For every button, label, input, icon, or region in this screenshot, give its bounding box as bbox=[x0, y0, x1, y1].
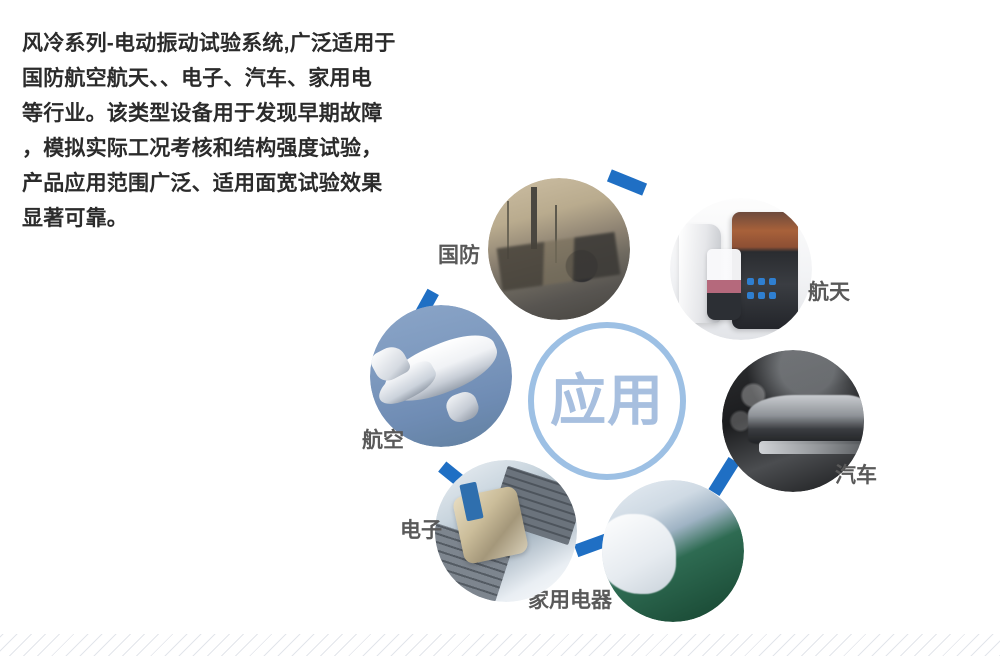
node-label-aerospace: 航天 bbox=[808, 282, 850, 303]
appliance-photo bbox=[602, 480, 744, 622]
node-label-electronics: 电子 bbox=[400, 520, 442, 541]
blender-jar bbox=[707, 249, 741, 320]
node-label-appliance: 家用电器 bbox=[528, 590, 612, 611]
control-dot-6 bbox=[769, 292, 776, 299]
node-appliance[interactable] bbox=[602, 480, 744, 622]
application-cycle-diagram: 应用 国防 航天 bbox=[330, 150, 970, 650]
center-label: 应用 bbox=[550, 373, 664, 429]
airliner-engine bbox=[443, 389, 482, 426]
node-label-aviation: 航空 bbox=[362, 430, 404, 451]
node-label-automobile: 汽车 bbox=[835, 465, 877, 486]
electronics-photo bbox=[435, 460, 577, 602]
control-dot-1 bbox=[747, 278, 754, 285]
control-dot-5 bbox=[758, 292, 765, 299]
node-aerospace[interactable] bbox=[670, 198, 812, 340]
description-line-1: 风冷系列-电动振动试验系统,广泛适用于 bbox=[22, 26, 422, 61]
node-aviation[interactable] bbox=[370, 305, 512, 447]
airliner-tail bbox=[370, 341, 412, 385]
node-electronics[interactable] bbox=[435, 460, 577, 602]
aviation-photo bbox=[370, 305, 512, 447]
control-dot-2 bbox=[758, 278, 765, 285]
connector-defense-to-aerospace bbox=[607, 169, 647, 195]
control-dot-3 bbox=[769, 278, 776, 285]
control-dot-4 bbox=[747, 292, 754, 299]
bottom-hatch-decoration bbox=[0, 634, 1000, 656]
node-label-defense: 国防 bbox=[438, 245, 480, 266]
center-ring: 应用 bbox=[528, 322, 686, 480]
application-fields-infographic: 风冷系列-电动振动试验系统,广泛适用于 国防航空航天、、电子、汽车、家用电 等行… bbox=[0, 0, 1000, 656]
defense-photo bbox=[488, 178, 630, 320]
node-defense[interactable] bbox=[488, 178, 630, 320]
description-line-3: 等行业。该类型设备用于发现早期故障 bbox=[22, 96, 422, 131]
aerospace-photo bbox=[670, 198, 812, 340]
description-line-2: 国防航空航天、、电子、汽车、家用电 bbox=[22, 61, 422, 96]
